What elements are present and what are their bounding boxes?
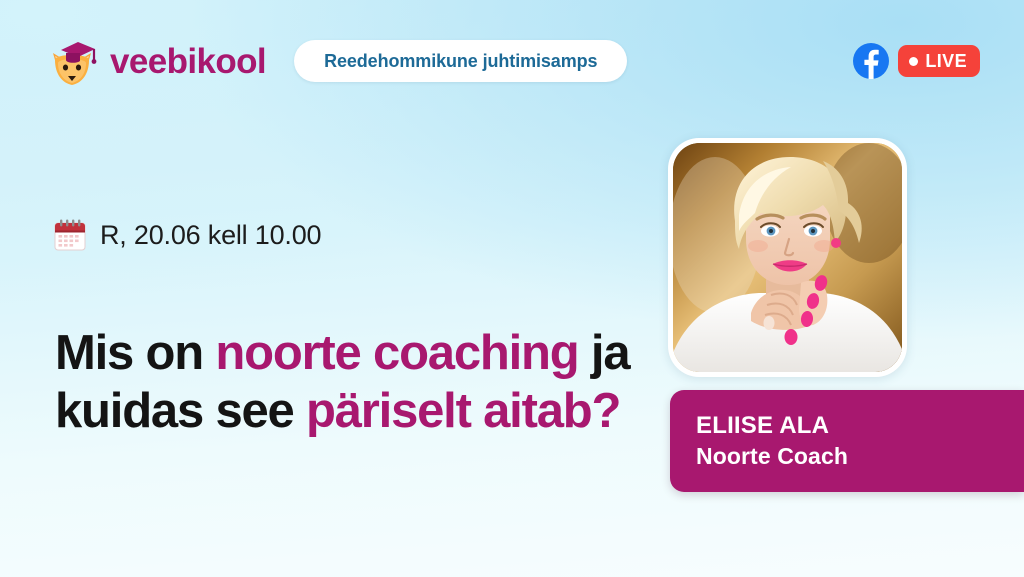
speaker-name: ELIISE ALA: [696, 411, 1024, 441]
webinar-promo-slide: veebikool Reedehommikune juhtimisamps LI…: [0, 0, 1024, 577]
speaker-role: Noorte Coach: [696, 442, 1024, 471]
live-badge-label: LIVE: [925, 52, 967, 70]
event-date-text: R, 20.06 kell 10.00: [100, 222, 321, 249]
live-badge[interactable]: LIVE: [898, 45, 980, 77]
header-right-group: LIVE: [853, 43, 980, 79]
headline-accent-1: noorte coaching: [215, 326, 578, 380]
facebook-icon[interactable]: [853, 43, 889, 79]
headline-part-1: Mis on: [55, 326, 215, 380]
calendar-icon: [53, 218, 87, 252]
headline-accent-2: päriselt aitab?: [306, 384, 620, 438]
topic-pill[interactable]: Reedehommikune juhtimisamps: [294, 40, 627, 82]
brand-logo-group[interactable]: veebikool: [44, 33, 266, 89]
brand-wordmark: veebikool: [110, 44, 266, 79]
speaker-portrait-photo: [673, 143, 902, 372]
speaker-name-card: ELIISE ALA Noorte Coach: [670, 390, 1024, 492]
event-date-row: R, 20.06 kell 10.00: [53, 218, 321, 252]
live-dot-icon: [909, 57, 918, 66]
fox-graduation-cap-logo-icon: [44, 33, 100, 89]
speaker-photo-frame: [668, 138, 907, 377]
page-title: Mis on noorte coaching ja kuidas see pär…: [55, 325, 675, 441]
header-bar: veebikool Reedehommikune juhtimisamps LI…: [44, 33, 980, 89]
topic-pill-label: Reedehommikune juhtimisamps: [324, 51, 597, 72]
